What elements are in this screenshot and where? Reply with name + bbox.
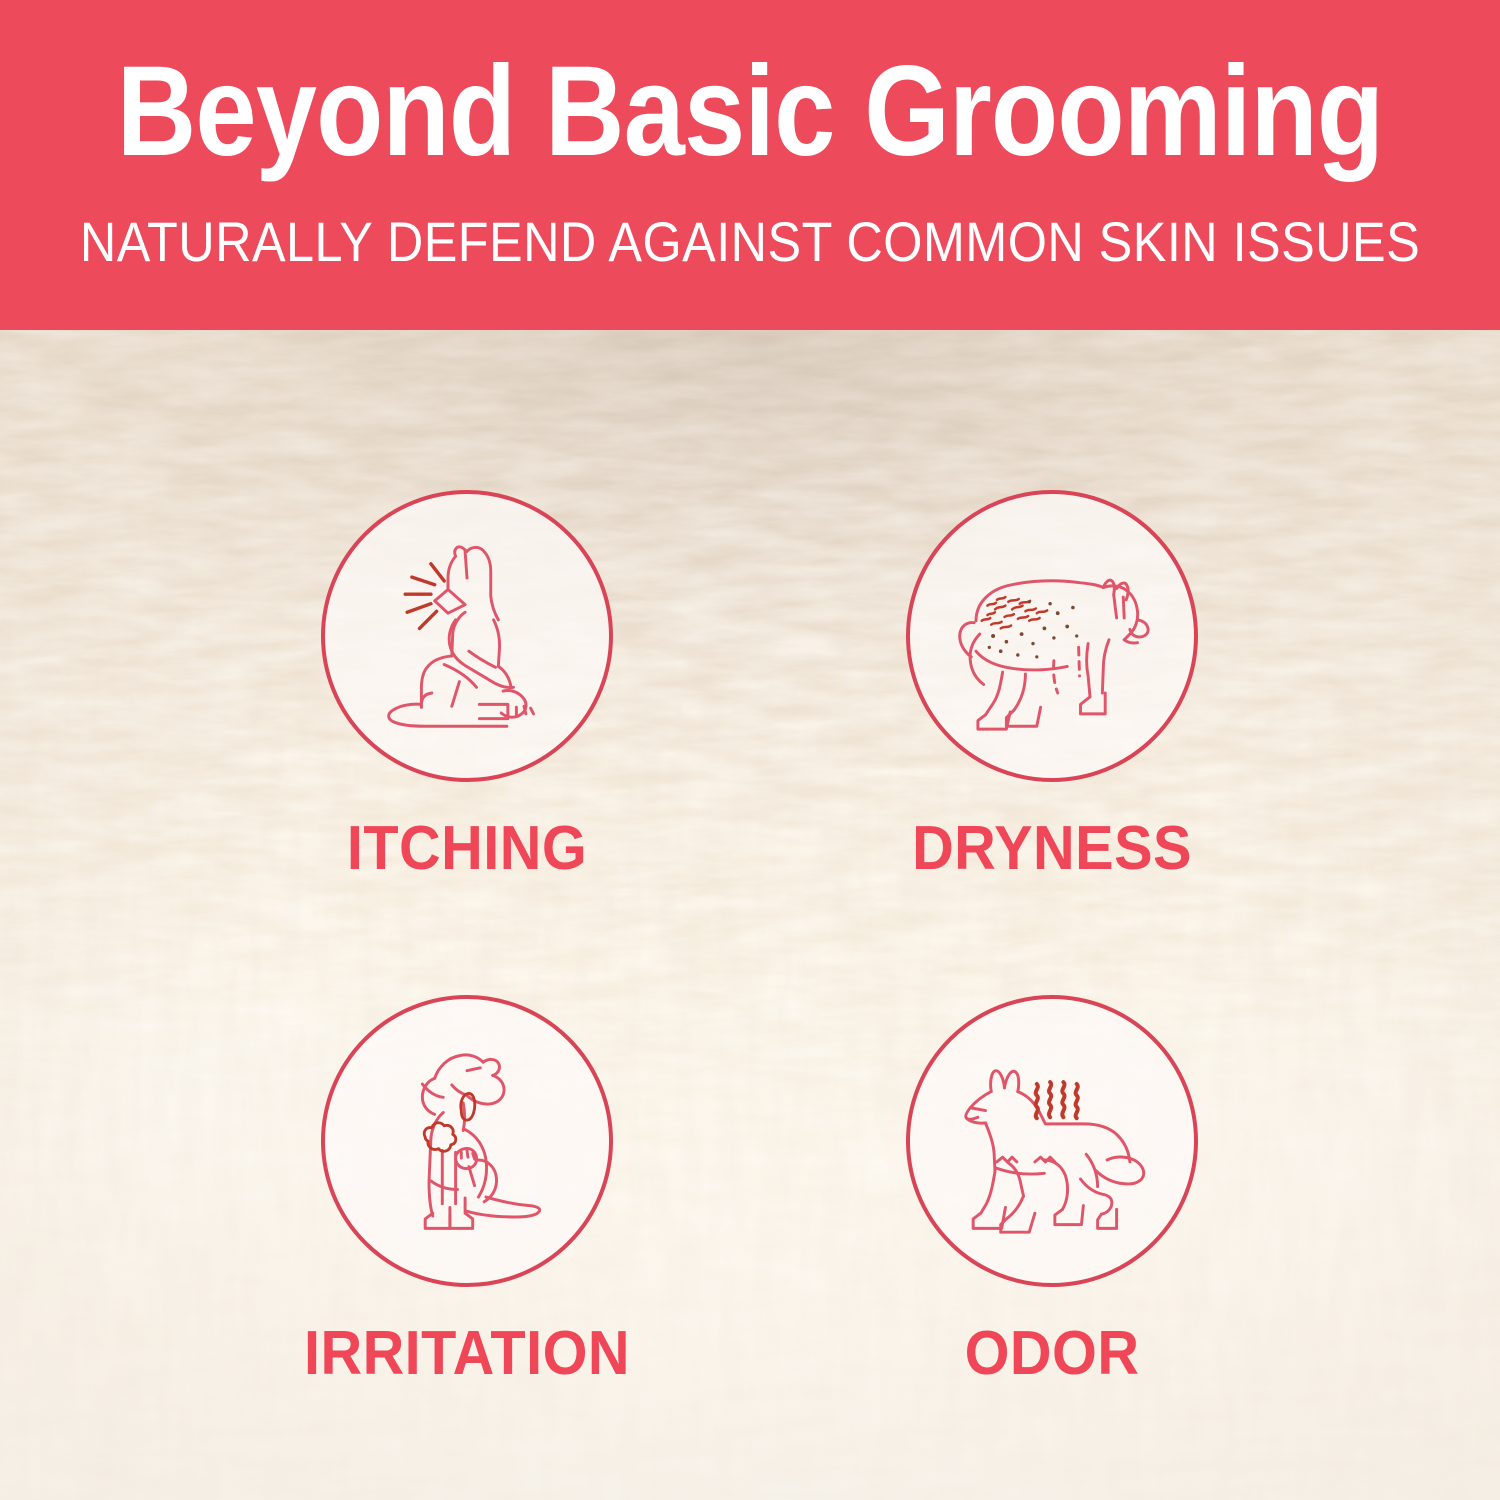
benefit-item-odor: ODOR — [822, 995, 1282, 1387]
benefit-icon-circle-irritation — [321, 995, 613, 1287]
dog-odor-waves-icon — [938, 1027, 1166, 1255]
dog-irritated-patches-icon — [353, 1027, 581, 1255]
promo-poster: Beyond Basic Grooming NATURALLY DEFEND A… — [0, 0, 1500, 1500]
benefit-item-irritation: IRRITATION — [237, 995, 697, 1387]
dog-dry-skin-flakes-icon — [938, 522, 1166, 750]
benefit-item-itching: ITCHING — [237, 490, 697, 882]
page-subtitle: NATURALLY DEFEND AGAINST COMMON SKIN ISS… — [75, 210, 1425, 274]
benefit-icon-circle-itching — [321, 490, 613, 782]
benefit-label-odor: ODOR — [838, 1321, 1266, 1387]
benefits-grid: ITCHING — [0, 330, 1500, 1500]
page-title: Beyond Basic Grooming — [105, 44, 1395, 180]
benefit-label-irritation: IRRITATION — [253, 1321, 681, 1387]
dog-scratching-icon — [353, 522, 581, 750]
benefit-item-dryness: DRYNESS — [822, 490, 1282, 882]
benefit-label-dryness: DRYNESS — [838, 816, 1266, 882]
benefit-icon-circle-odor — [906, 995, 1198, 1287]
benefit-icon-circle-dryness — [906, 490, 1198, 782]
benefit-label-itching: ITCHING — [253, 816, 681, 882]
header-banner: Beyond Basic Grooming NATURALLY DEFEND A… — [0, 0, 1500, 330]
